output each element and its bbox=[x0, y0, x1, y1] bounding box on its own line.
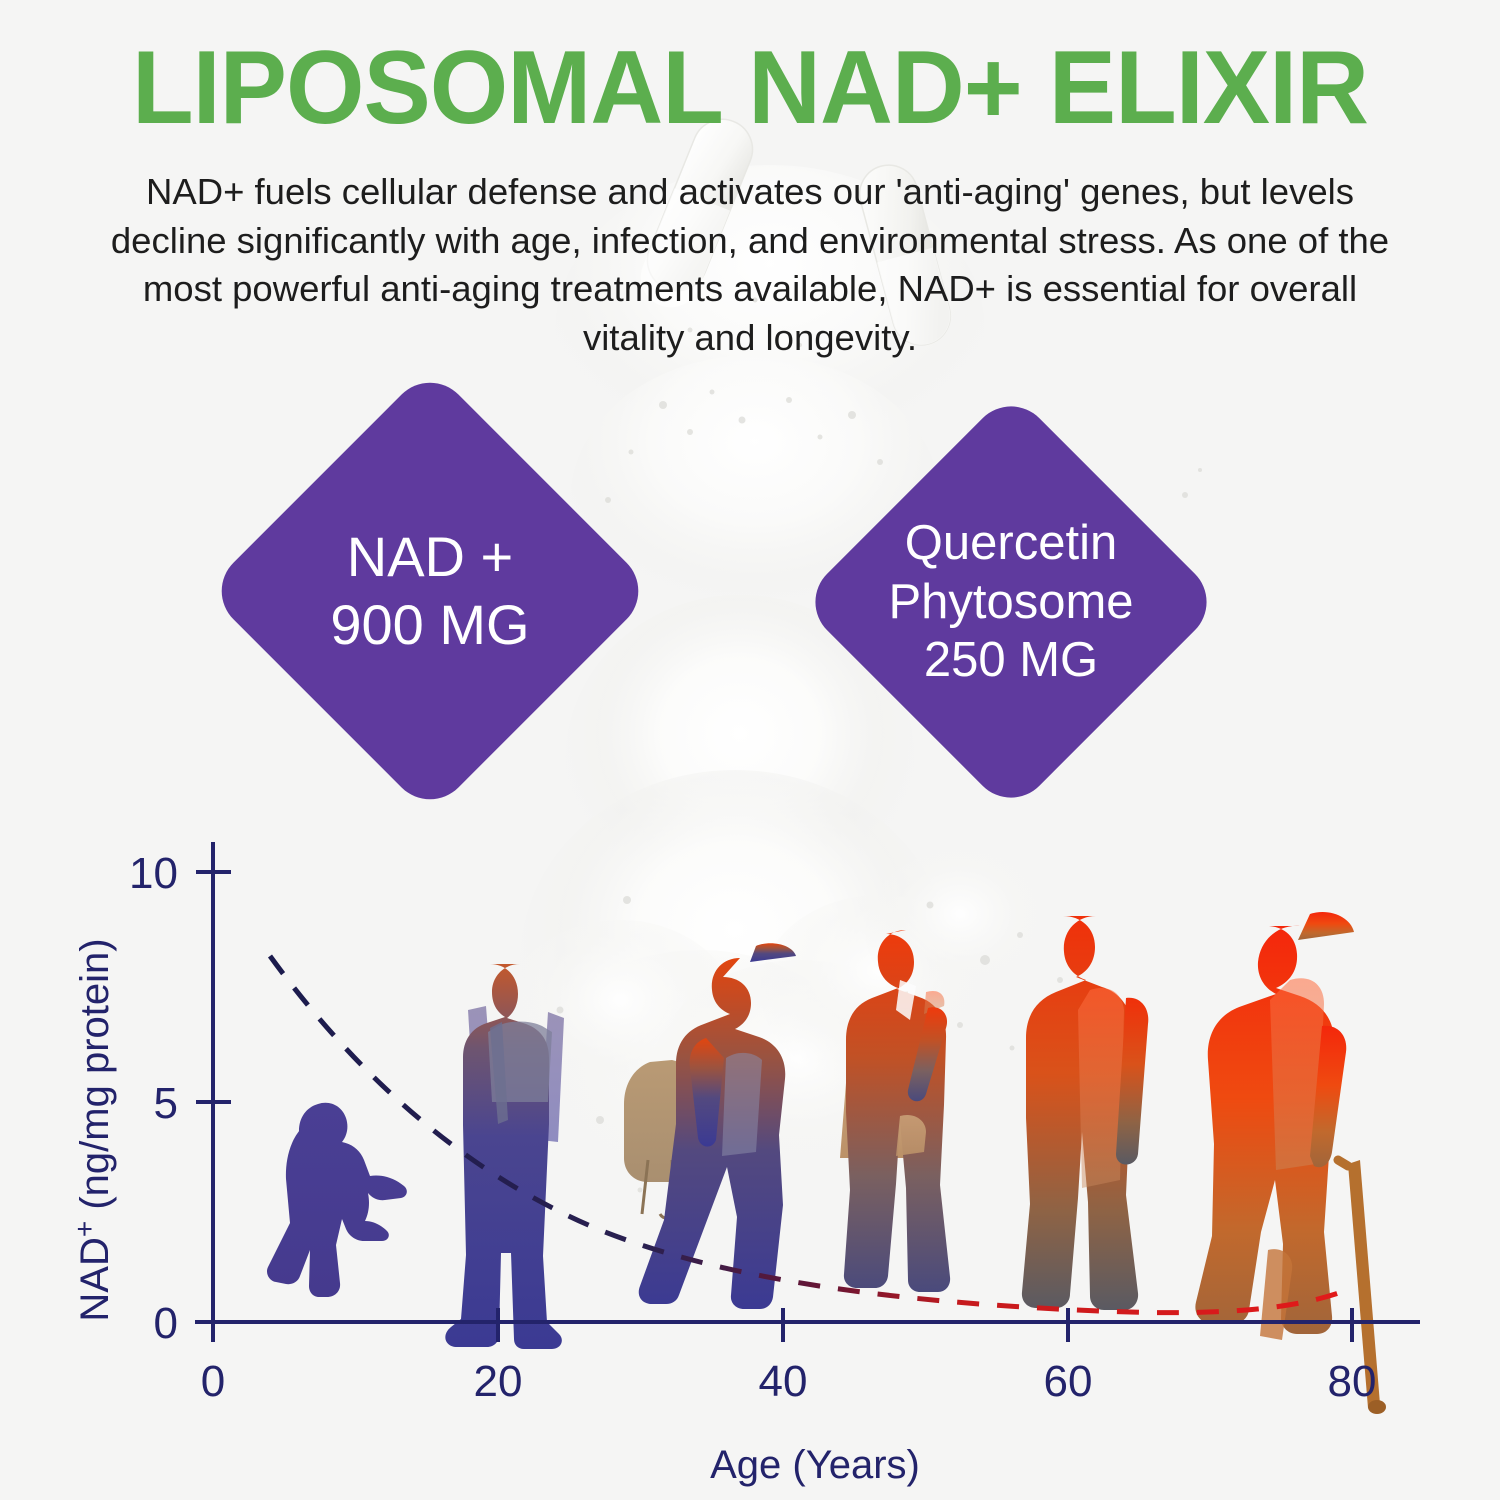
badge-nad-label: NAD + 900 MG bbox=[271, 432, 589, 750]
x-tick-80: 80 bbox=[1328, 1357, 1377, 1406]
y-axis-title-base: NAD bbox=[73, 1237, 117, 1321]
badge-nad-line1: NAD + bbox=[347, 523, 514, 591]
silhouette-teen bbox=[445, 964, 564, 1349]
infographic-root: LIPOSOMAL NAD+ ELIXIR NAD+ fuels cellula… bbox=[0, 0, 1500, 1500]
y-axis-title: NAD+ (ng/mg protein) bbox=[69, 938, 117, 1321]
silhouette-young-adult-walking bbox=[624, 943, 796, 1309]
x-tick-labels: 0 20 40 60 80 bbox=[201, 1357, 1377, 1406]
page-title: LIPOSOMAL NAD+ ELIXIR bbox=[23, 36, 1478, 140]
silhouette-adult-with-bag bbox=[840, 930, 950, 1292]
badge-quercetin-label: Quercetin Phytosome 250 MG bbox=[861, 452, 1161, 752]
svg-text:NAD+ (ng/mg protein): NAD+ (ng/mg protein) bbox=[69, 938, 117, 1321]
y-axis-title-unit: (ng/mg protein) bbox=[73, 938, 117, 1209]
nad-decline-chart: 10 5 0 0 20 40 60 80 Age (Years) NAD+ (n… bbox=[0, 830, 1500, 1500]
silhouette-mature-adult bbox=[1022, 916, 1148, 1310]
x-tick-40: 40 bbox=[759, 1357, 808, 1406]
x-tick-60: 60 bbox=[1044, 1357, 1093, 1406]
silhouette-toddler bbox=[267, 1103, 407, 1297]
y-tick-10: 10 bbox=[129, 849, 178, 898]
badge-quercetin-line3: 250 MG bbox=[924, 631, 1098, 690]
y-tick-labels: 10 5 0 bbox=[129, 849, 178, 1348]
y-axis-title-superscript: + bbox=[69, 1221, 100, 1237]
y-tick-5: 5 bbox=[154, 1079, 178, 1128]
page-description: NAD+ fuels cellular defense and activate… bbox=[100, 168, 1400, 362]
y-tick-0: 0 bbox=[154, 1299, 178, 1348]
badge-quercetin-line2: Phytosome bbox=[888, 573, 1133, 632]
x-tick-20: 20 bbox=[474, 1357, 523, 1406]
badge-quercetin-line1: Quercetin bbox=[905, 514, 1117, 573]
nad-decline-curve bbox=[270, 956, 1352, 1313]
x-tick-0: 0 bbox=[201, 1357, 225, 1406]
silhouette-elderly-with-cane bbox=[1195, 912, 1386, 1414]
badge-quercetin-dose: Quercetin Phytosome 250 MG bbox=[799, 390, 1223, 814]
x-axis-title: Age (Years) bbox=[710, 1443, 920, 1487]
badge-nad-line2: 900 MG bbox=[330, 591, 529, 659]
badge-nad-dose: NAD + 900 MG bbox=[205, 366, 655, 816]
